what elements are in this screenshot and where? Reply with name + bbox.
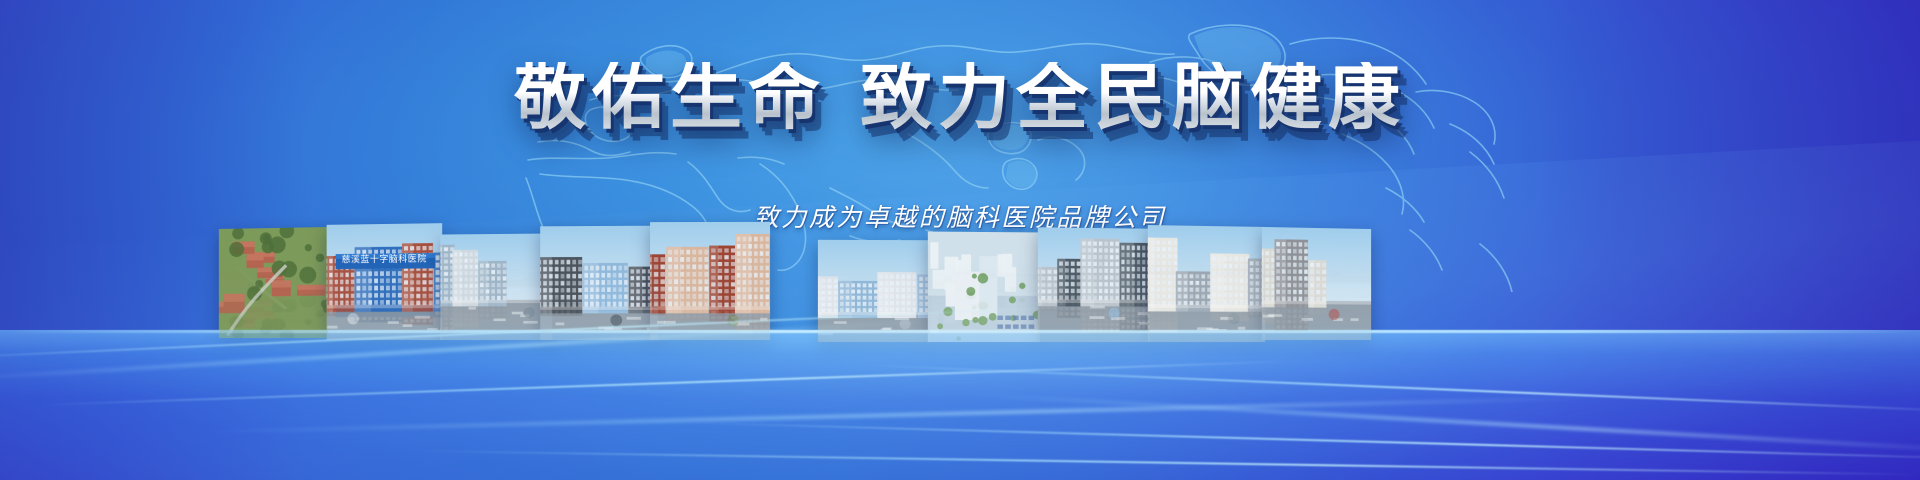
background-gradient [0,0,1920,480]
hospital-brand-banner: 敬佑生命致力全民脑健康 致力成为卓越的脑科医院品牌公司 慈溪蓝十字脑科医院 [0,0,1920,480]
